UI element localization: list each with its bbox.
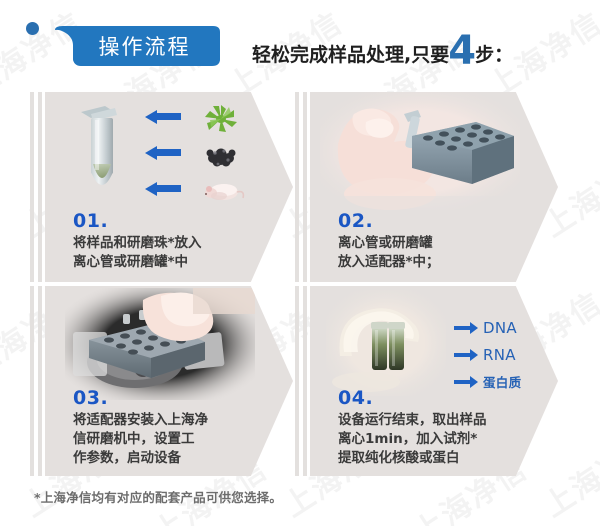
step-number: 01. [73, 212, 273, 232]
output-row: RNA [454, 343, 540, 366]
grinding-beads-icon [193, 140, 249, 170]
step-02-photo [320, 92, 520, 210]
hand-installing-adapter-into-grinder-photo [65, 288, 255, 400]
centrifuge-tube-icon [71, 102, 141, 202]
headline-prefix: 轻松完成样品处理,只要 [252, 40, 449, 67]
step-chevron-panel: 03. 将适配器安装入上海净 信研磨机中，设置工 作参数，启动设备 [45, 286, 293, 476]
step-card-01: 01. 将样品和研磨珠*放入 离心管或研磨罐*中 [28, 92, 293, 282]
arrow-left-icon [145, 110, 181, 124]
side-bar-outer [295, 286, 299, 476]
side-bar-inner [38, 286, 42, 476]
step-number: 04. [338, 389, 548, 409]
output-row: DNA [454, 316, 540, 339]
step-chevron-panel: 01. 将样品和研磨珠*放入 离心管或研磨罐*中 [45, 92, 293, 282]
output-label: DNA [483, 319, 517, 337]
headline-number: 4 [448, 31, 476, 71]
step-side-bars [28, 92, 46, 282]
step-side-bars [293, 92, 311, 282]
step-card-04: DNA RNA 蛋白质 04. 设备运行结束，取出样品 离心1min，加入试剂*… [293, 286, 558, 476]
step-04-outputs: DNA RNA 蛋白质 [454, 316, 540, 397]
blue-dot-icon [26, 22, 39, 35]
step-01-samples [193, 104, 251, 204]
step-chevron-panel: 02. 离心管或研磨罐 放入适配器*中； [310, 92, 558, 282]
steps-grid: 01. 将样品和研磨珠*放入 离心管或研磨罐*中 [0, 88, 600, 480]
hand-loading-tube-into-adapter-photo [320, 92, 520, 210]
footnote: *上海净信均有对应的配套产品可供您选择。 [34, 487, 282, 506]
step-side-bars [28, 286, 46, 476]
step-02-caption: 02. 离心管或研磨罐 放入适配器*中； [338, 212, 538, 272]
gloved-hand-holding-sample-tubes-photo [326, 290, 446, 396]
output-label: RNA [483, 346, 516, 364]
arrow-left-icon [145, 146, 181, 160]
arrow-left-icon [145, 182, 181, 196]
side-bar-outer [30, 92, 34, 282]
step-text: 将样品和研磨珠*放入 离心管或研磨罐*中 [73, 234, 273, 272]
step-text: 将适配器安装入上海净 信研磨机中，设置工 作参数，启动设备 [73, 411, 273, 468]
step-number: 03. [73, 389, 273, 409]
arrow-right-icon [454, 322, 478, 334]
step-card-03: 03. 将适配器安装入上海净 信研磨机中，设置工 作参数，启动设备 [28, 286, 293, 476]
plant-leaf-icon [193, 104, 249, 134]
headline: 轻松完成样品处理,只要 4 步： [252, 28, 513, 72]
side-bar-inner [303, 92, 307, 282]
step-04-illustration: DNA RNA 蛋白质 [326, 290, 526, 396]
header: 操作流程 轻松完成样品处理,只要 4 步： [0, 0, 600, 88]
step-number: 02. [338, 212, 538, 232]
side-bar-inner [38, 92, 42, 282]
headline-suffix: 步： [475, 40, 513, 67]
step-04-caption: 04. 设备运行结束，取出样品 离心1min，加入试剂* 提取纯化核酸或蛋白 [338, 389, 548, 468]
side-bar-inner [303, 286, 307, 476]
step-01-arrows [145, 108, 191, 200]
side-bar-outer [30, 286, 34, 476]
mouse-icon [193, 174, 249, 204]
arrow-right-icon [454, 376, 478, 388]
ribbon-label: 操作流程 [55, 26, 220, 66]
step-01-illustration [45, 94, 255, 206]
step-side-bars [293, 286, 311, 476]
step-03-caption: 03. 将适配器安装入上海净 信研磨机中，设置工 作参数，启动设备 [73, 389, 273, 468]
side-bar-outer [295, 92, 299, 282]
step-01-caption: 01. 将样品和研磨珠*放入 离心管或研磨罐*中 [73, 212, 273, 272]
arrow-right-icon [454, 349, 478, 361]
section-ribbon: 操作流程 [55, 26, 220, 66]
step-03-photo [65, 288, 255, 400]
step-chevron-panel: DNA RNA 蛋白质 04. 设备运行结束，取出样品 离心1min，加入试剂*… [310, 286, 558, 476]
step-card-02: 02. 离心管或研磨罐 放入适配器*中； [293, 92, 558, 282]
step-text: 离心管或研磨罐 放入适配器*中； [338, 234, 538, 272]
step-text: 设备运行结束，取出样品 离心1min，加入试剂* 提取纯化核酸或蛋白 [338, 411, 548, 468]
